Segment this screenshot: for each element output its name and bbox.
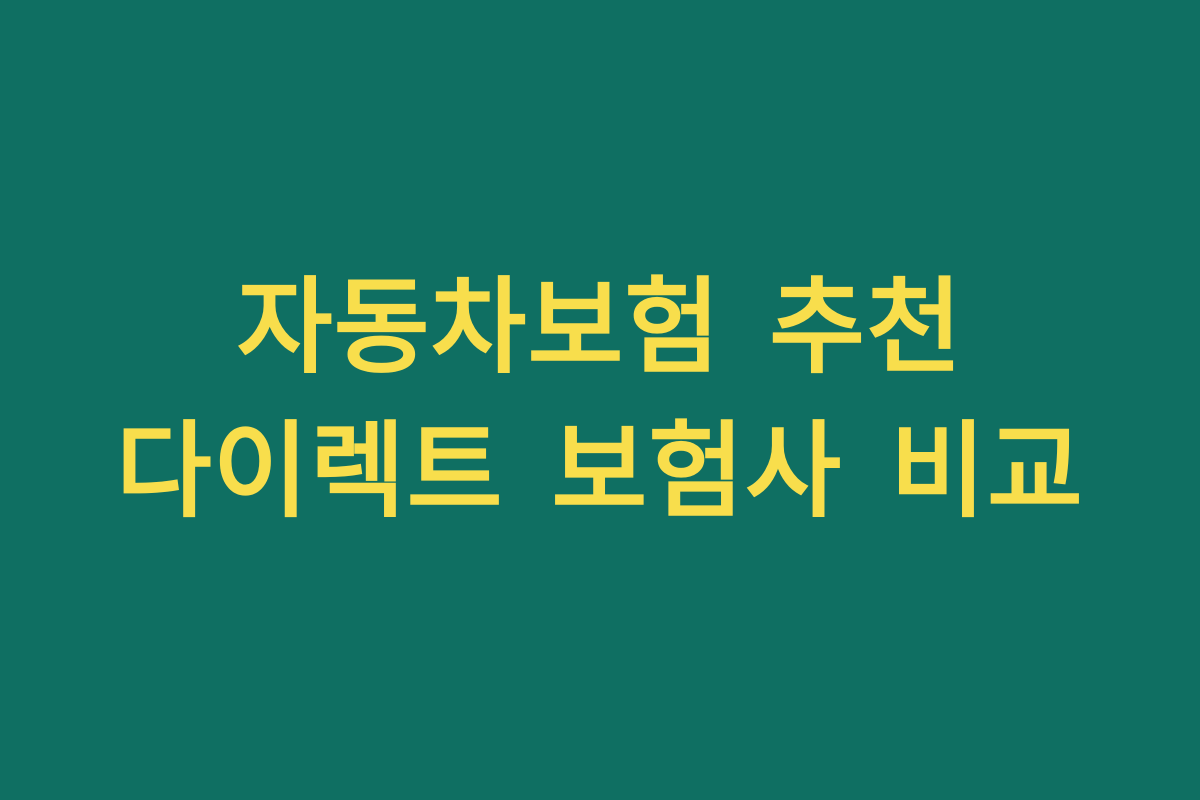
title-banner: 자동차보험 추천 다이렉트 보험사 비교 [0,0,1200,800]
page-title: 자동차보험 추천 다이렉트 보험사 비교 [80,256,1120,543]
